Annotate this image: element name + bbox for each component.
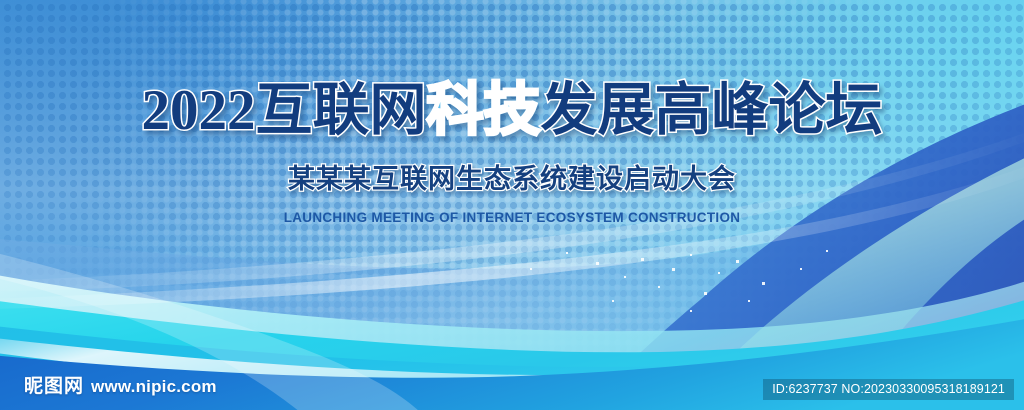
headline-block: 2022互联网科技发展高峰论坛 某某某互联网生态系统建设启动大会 LAUNCHI…	[0, 82, 1024, 225]
image-id-label: ID:6237737 NO:20230330095318189121	[763, 379, 1014, 400]
watermark-site-name: 昵图网	[24, 371, 84, 398]
english-tagline: LAUNCHING MEETING OF INTERNET ECOSYSTEM …	[0, 210, 1024, 225]
poster-canvas: 2022互联网科技发展高峰论坛 某某某互联网生态系统建设启动大会 LAUNCHI…	[0, 0, 1024, 410]
title-segment-technology: 科技	[427, 82, 541, 139]
title-segment-year: 2022	[142, 82, 256, 139]
page-title: 2022互联网科技发展高峰论坛	[0, 82, 1024, 139]
title-segment-internet: 互联网	[256, 82, 427, 139]
watermark-site-url: www.nipic.com	[91, 377, 217, 397]
title-segment-summit: 发展高峰论坛	[541, 82, 883, 139]
watermark: 昵图网 www.nipic.com	[24, 371, 217, 398]
page-subtitle: 某某某互联网生态系统建设启动大会	[0, 157, 1024, 196]
